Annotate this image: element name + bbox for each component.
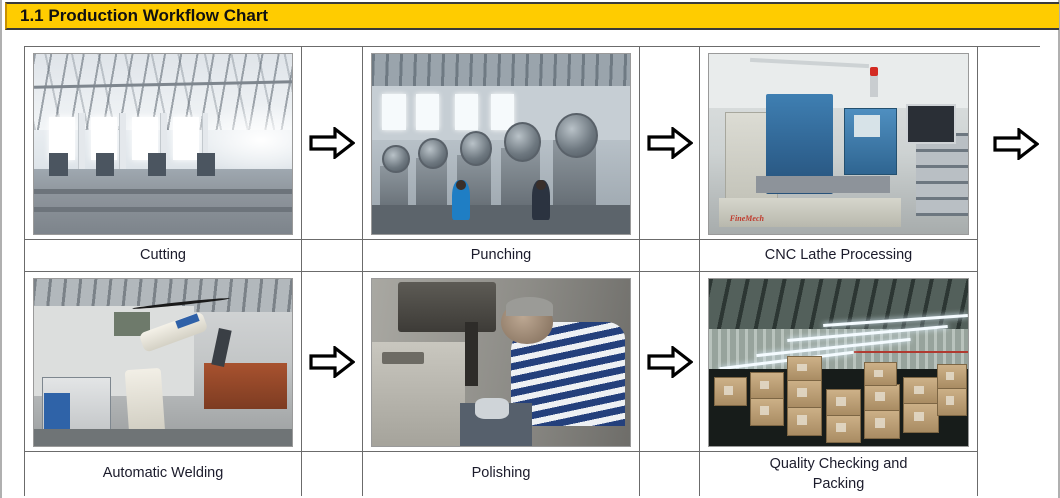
caption-automatic-welding: Automatic Welding: [24, 452, 302, 496]
spacer-cell-r1-2: [640, 240, 700, 272]
arrow-right-icon: [309, 346, 355, 378]
photo-blue-cnc-machining-center: FineMech: [708, 53, 969, 235]
arrow-right-icon: [993, 128, 1039, 160]
arrow-cell-r2-1: [302, 272, 363, 452]
page-title: 1.1 Production Workflow Chart: [7, 6, 268, 26]
spacer-cell-r2-3: [978, 272, 1040, 452]
spacer-cell-r1-3: [978, 240, 1040, 272]
caption-cutting: Cutting: [24, 240, 302, 272]
machine-brand-text: FineMech: [730, 214, 764, 223]
spacer-cell-r1-1: [302, 240, 363, 272]
caption-polishing: Polishing: [363, 452, 640, 496]
photo-factory-hall-cutting-line: [33, 53, 293, 235]
caption-quality-packing-line1: Quality Checking and: [770, 455, 908, 475]
photo-cell-polishing: [363, 272, 640, 452]
arrow-cell-r1-2: [640, 46, 700, 240]
spacer-cell-r2-4: [302, 452, 363, 496]
arrow-cell-r2-2: [640, 272, 700, 452]
photo-cell-punching: [363, 46, 640, 240]
photo-punching-press-machines: [371, 53, 631, 235]
photo-warehouse-packed-cartons: [708, 278, 969, 447]
photo-robotic-welding-arm: [33, 278, 293, 447]
photo-cell-cnc-lathe: FineMech: [700, 46, 978, 240]
arrow-cell-r1-3: [978, 46, 1040, 240]
workflow-chart-page: 1.1 Production Workflow Chart: [0, 0, 1060, 498]
photo-cell-welding: [24, 272, 302, 452]
photo-cell-cutting: [24, 46, 302, 240]
section-header: 1.1 Production Workflow Chart: [5, 2, 1059, 30]
spacer-cell-r2-6: [978, 452, 1040, 496]
photo-worker-polishing-at-drill-press: [371, 278, 631, 447]
arrow-cell-r1-1: [302, 46, 363, 240]
workflow-grid: FineMech Cutting Punching CNC Lathe Proc…: [24, 46, 1040, 496]
arrow-right-icon: [647, 127, 693, 159]
photo-cell-quality-packing: [700, 272, 978, 452]
caption-punching: Punching: [363, 240, 640, 272]
spacer-cell-r2-5: [640, 452, 700, 496]
arrow-right-icon: [309, 127, 355, 159]
arrow-right-icon: [647, 346, 693, 378]
caption-cnc-lathe: CNC Lathe Processing: [700, 240, 978, 272]
caption-quality-packing-line2: Packing: [770, 475, 908, 495]
caption-quality-packing: Quality Checking and Packing: [700, 452, 978, 496]
